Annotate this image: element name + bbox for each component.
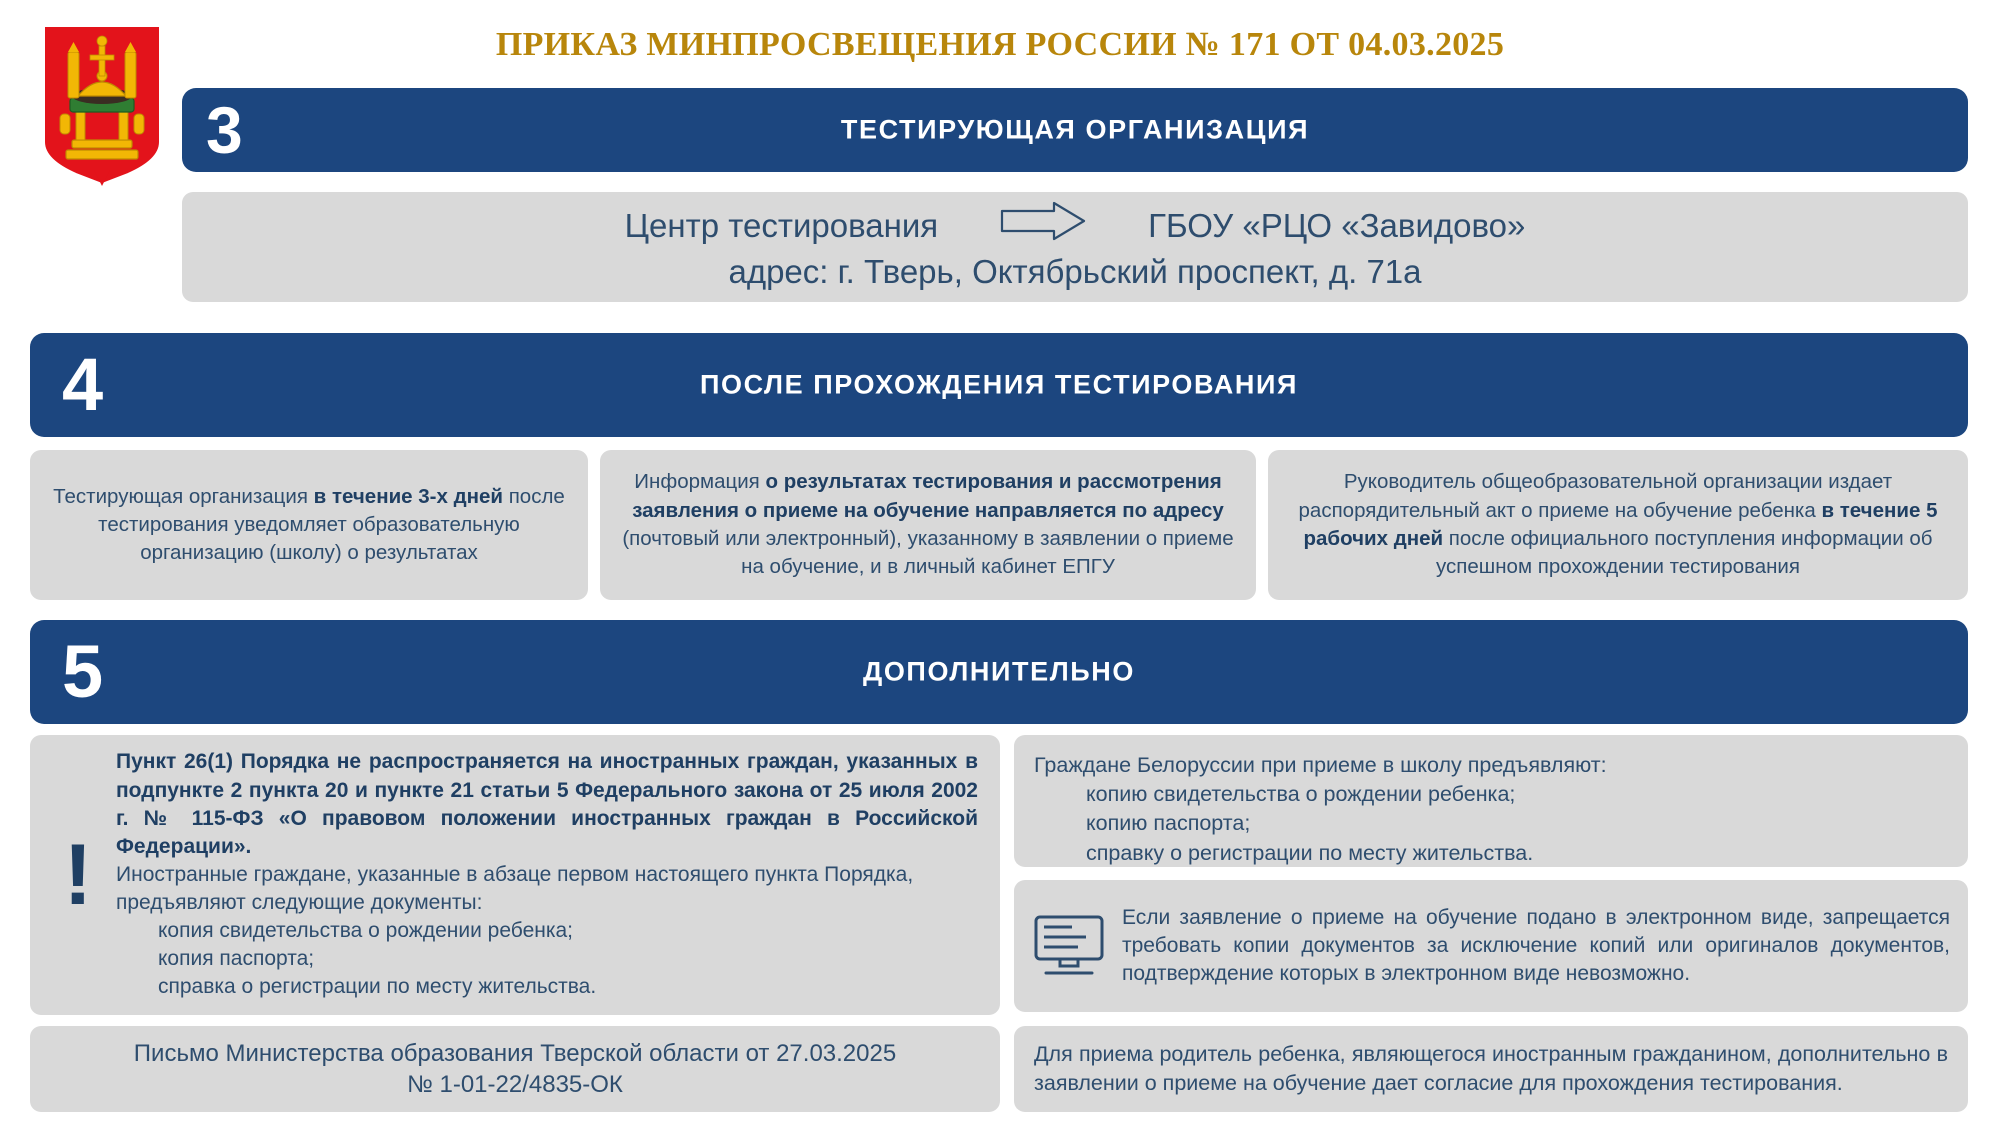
electronic-application-panel: Если заявление о приеме на обучение пода…: [1014, 880, 1968, 1012]
slide-root: ПРИКАЗ МИНПРОСВЕЩЕНИЯ РОССИИ № 171 ОТ 04…: [0, 0, 2000, 1125]
testing-center-panel: Центр тестирования ГБОУ «РЦО «Завидово» …: [182, 192, 1968, 302]
document-item: копию свидетельства о рождении ребенка;: [1034, 780, 1948, 809]
foreign-parent-consent-text: Для приема родитель ребенка, являющегося…: [1034, 1040, 1948, 1098]
testing-center-address: адрес: г. Тверь, Октябрьский проспект, д…: [625, 251, 1526, 293]
testing-center-org: ГБОУ «РЦО «Завидово»: [1148, 205, 1525, 247]
ministry-letter-line2: № 1-01-22/4835-ОК: [134, 1069, 896, 1100]
document-item: справку о регистрации по месту жительств…: [1034, 839, 1948, 868]
arrow-right-icon: [1000, 201, 1086, 251]
document-item: справка о регистрации по месту жительств…: [116, 973, 978, 1001]
document-item: копия свидетельства о рождении ребенка;: [116, 917, 978, 945]
section-title-3: ТЕСТИРУЮЩАЯ ОРГАНИЗАЦИЯ: [182, 115, 1968, 146]
exclamation-icon: !: [40, 832, 116, 918]
foreign-citizens-panel: ! Пункт 26(1) Порядка не распространяетс…: [30, 735, 1000, 1015]
foreign-citizens-law-text: Пункт 26(1) Порядка не распространяется …: [116, 748, 978, 861]
document-item: копия паспорта;: [116, 945, 978, 973]
document-item: копию паспорта;: [1034, 809, 1948, 838]
testing-center-label: Центр тестирования: [625, 205, 939, 247]
after-testing-column-1: Тестирующая организация в течение 3-х дн…: [30, 450, 588, 600]
ministry-letter-line1: Письмо Министерства образования Тверской…: [134, 1038, 896, 1069]
ministry-letter-panel: Письмо Министерства образования Тверской…: [30, 1026, 1000, 1112]
section-band-3: 3 ТЕСТИРУЮЩАЯ ОРГАНИЗАЦИЯ: [182, 88, 1968, 172]
belarus-intro: Граждане Белоруссии при приеме в школу п…: [1034, 751, 1948, 780]
section-title-4: ПОСЛЕ ПРОХОЖДЕНИЯ ТЕСТИРОВАНИЯ: [30, 370, 1968, 401]
section-band-5: 5 ДОПОЛНИТЕЛЬНО: [30, 620, 1968, 724]
monitor-icon: [1032, 913, 1106, 979]
electronic-application-text: Если заявление о приеме на обучение пода…: [1122, 904, 1950, 988]
tver-oblast-coat-of-arms: [42, 24, 162, 186]
coat-of-arms-svg: [42, 24, 162, 186]
page-title: ПРИКАЗ МИНПРОСВЕЩЕНИЯ РОССИИ № 171 ОТ 04…: [300, 26, 1700, 64]
foreign-citizens-intro: Иностранные граждане, указанные в абзаце…: [116, 861, 978, 917]
after-testing-column-2: Информация о результатах тестирования и …: [600, 450, 1256, 600]
belarus-citizens-panel: Граждане Белоруссии при приеме в школу п…: [1014, 735, 1968, 867]
after-testing-column-3: Руководитель общеобразовательной организ…: [1268, 450, 1968, 600]
section-band-4: 4 ПОСЛЕ ПРОХОЖДЕНИЯ ТЕСТИРОВАНИЯ: [30, 333, 1968, 437]
foreign-parent-consent-panel: Для приема родитель ребенка, являющегося…: [1014, 1026, 1968, 1112]
section-title-5: ДОПОЛНИТЕЛЬНО: [30, 657, 1968, 688]
